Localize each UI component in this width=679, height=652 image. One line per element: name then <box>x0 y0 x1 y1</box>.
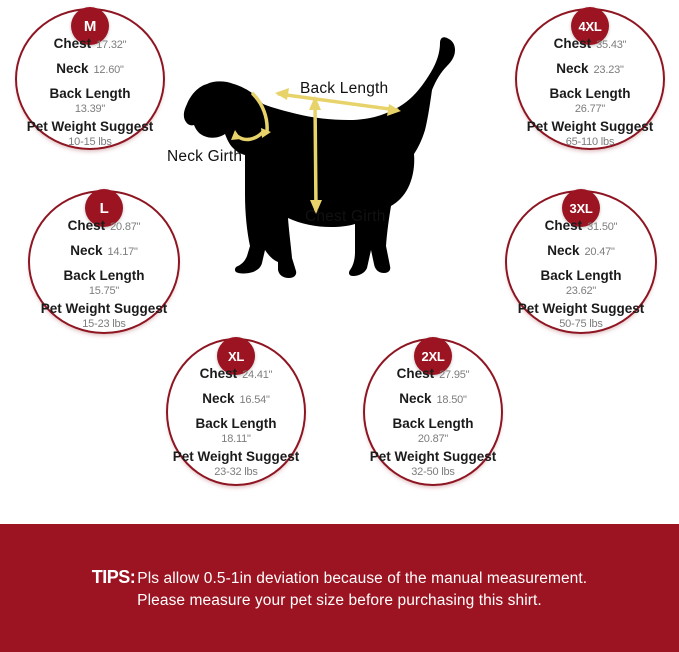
weight-value: 23-32 lbs <box>168 467 304 478</box>
size-bubble-xl[interactable]: XL Chest24.41" Neck16.54" Back Length 18… <box>166 338 306 486</box>
chest-value: 24.41" <box>242 369 272 381</box>
neck-row: Neck23.23" <box>517 61 663 77</box>
weight-row: Pet Weight Suggest <box>168 449 304 465</box>
dog-measurement-diagram: Back Length Neck Girth Chest Girth <box>155 18 515 308</box>
weight-row: Pet Weight Suggest <box>507 301 655 317</box>
weight-label: Pet Weight Suggest <box>518 301 645 316</box>
back-length-label: Back Length <box>195 416 276 431</box>
weight-label: Pet Weight Suggest <box>27 119 154 134</box>
neck-row: Neck18.50" <box>365 391 501 407</box>
chest-row: Chest31.50" <box>507 218 655 234</box>
size-bubble-m[interactable]: M Chest17.32" Neck12.60" Back Length 13.… <box>15 8 165 150</box>
weight-row: Pet Weight Suggest <box>517 119 663 135</box>
neck-label: Neck <box>399 391 431 406</box>
chest-row: Chest17.32" <box>17 36 163 52</box>
weight-row: Pet Weight Suggest <box>17 119 163 135</box>
size-details-2xl: Chest27.95" Neck18.50" Back Length 20.87… <box>365 366 501 482</box>
chest-row: Chest35.43" <box>517 36 663 52</box>
neck-value: 12.60" <box>94 64 124 76</box>
size-details-xl: Chest24.41" Neck16.54" Back Length 18.11… <box>168 366 304 482</box>
chest-label: Chest <box>554 36 592 51</box>
chest-label: Chest <box>545 218 583 233</box>
neck-row: Neck20.47" <box>507 243 655 259</box>
neck-label: Neck <box>56 61 88 76</box>
size-bubble-4xl[interactable]: 4XL Chest35.43" Neck23.23" Back Length 2… <box>515 8 665 150</box>
chest-row: Chest27.95" <box>365 366 501 382</box>
tips-line-1: Pls allow 0.5-1in deviation because of t… <box>137 570 587 587</box>
weight-row: Pet Weight Suggest <box>365 449 501 465</box>
chest-label: Chest <box>54 36 92 51</box>
chest-label: Chest <box>200 366 238 381</box>
neck-row: Neck12.60" <box>17 61 163 77</box>
weight-label: Pet Weight Suggest <box>370 449 497 464</box>
back-length-label: Back Length <box>63 268 144 283</box>
neck-label: Neck <box>202 391 234 406</box>
back-length-row: Back Length <box>17 86 163 102</box>
size-details-3xl: Chest31.50" Neck20.47" Back Length 23.62… <box>507 218 655 334</box>
weight-value: 65-110 lbs <box>517 137 663 148</box>
back-length-annotation: Back Length <box>300 80 388 98</box>
back-length-value: 13.39" <box>17 104 163 115</box>
chest-value: 27.95" <box>439 369 469 381</box>
neck-row: Neck16.54" <box>168 391 304 407</box>
chest-value: 35.43" <box>596 39 626 51</box>
weight-label: Pet Weight Suggest <box>173 449 300 464</box>
weight-value: 15-23 lbs <box>30 319 178 330</box>
size-details-4xl: Chest35.43" Neck23.23" Back Length 26.77… <box>517 36 663 152</box>
back-length-label: Back Length <box>49 86 130 101</box>
back-length-value: 26.77" <box>517 104 663 115</box>
tips-banner: TIPS:Pls allow 0.5-1in deviation because… <box>0 524 679 652</box>
back-length-row: Back Length <box>168 416 304 432</box>
neck-value: 23.23" <box>594 64 624 76</box>
back-length-value: 23.62" <box>507 286 655 297</box>
weight-value: 50-75 lbs <box>507 319 655 330</box>
weight-value: 10-15 lbs <box>17 137 163 148</box>
chest-value: 20.87" <box>110 221 140 233</box>
back-length-label: Back Length <box>549 86 630 101</box>
size-chart-page: M Chest17.32" Neck12.60" Back Length 13.… <box>0 0 679 652</box>
back-length-value: 20.87" <box>365 434 501 445</box>
neck-girth-annotation: Neck Girth <box>167 148 242 166</box>
back-length-row: Back Length <box>365 416 501 432</box>
chest-value: 31.50" <box>587 221 617 233</box>
neck-value: 14.17" <box>108 246 138 258</box>
neck-label: Neck <box>70 243 102 258</box>
neck-value: 20.47" <box>585 246 615 258</box>
back-length-row: Back Length <box>517 86 663 102</box>
size-bubble-2xl[interactable]: 2XL Chest27.95" Neck18.50" Back Length 2… <box>363 338 503 486</box>
back-length-label: Back Length <box>540 268 621 283</box>
tips-text: TIPS:Pls allow 0.5-1in deviation because… <box>78 564 601 613</box>
chest-girth-annotation: Chest Girth <box>305 208 386 226</box>
size-bubble-3xl[interactable]: 3XL Chest31.50" Neck20.47" Back Length 2… <box>505 190 657 334</box>
size-details-m: Chest17.32" Neck12.60" Back Length 13.39… <box>17 36 163 152</box>
weight-label: Pet Weight Suggest <box>527 119 654 134</box>
neck-value: 16.54" <box>240 394 270 406</box>
neck-label: Neck <box>547 243 579 258</box>
weight-label: Pet Weight Suggest <box>41 301 168 316</box>
back-length-value: 18.11" <box>168 434 304 445</box>
neck-label: Neck <box>556 61 588 76</box>
back-length-label: Back Length <box>392 416 473 431</box>
chest-value: 17.32" <box>96 39 126 51</box>
tips-line-2: Please measure your pet size before purc… <box>137 592 542 609</box>
tips-label: TIPS: <box>92 567 136 587</box>
neck-value: 18.50" <box>437 394 467 406</box>
chest-label: Chest <box>397 366 435 381</box>
weight-value: 32-50 lbs <box>365 467 501 478</box>
back-length-row: Back Length <box>507 268 655 284</box>
chest-row: Chest24.41" <box>168 366 304 382</box>
chest-label: Chest <box>68 218 106 233</box>
